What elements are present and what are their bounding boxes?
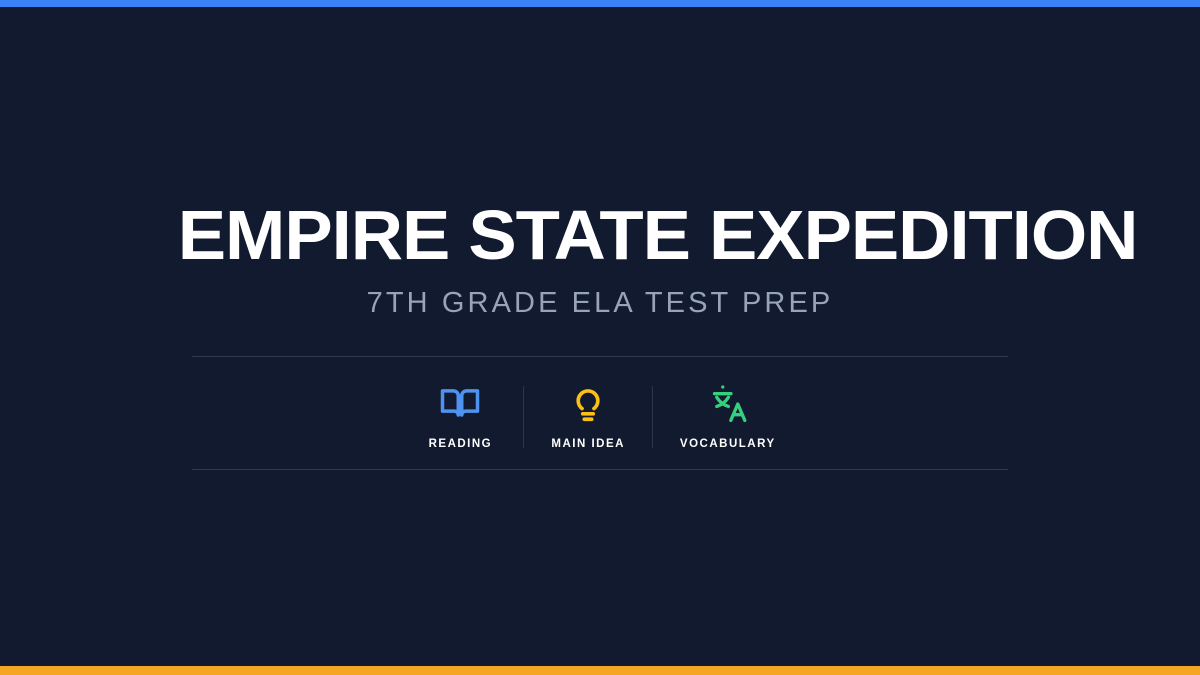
divider-top: [192, 356, 1008, 357]
page-title: EMPIRE STATE EXPEDITION: [178, 196, 1023, 274]
translate-icon: [707, 383, 749, 425]
feature-row: READING MAIN IDEA: [192, 365, 1008, 469]
feature-label-main-idea: MAIN IDEA: [551, 438, 625, 451]
feature-item-reading[interactable]: READING: [397, 383, 523, 451]
divider-bottom: [192, 469, 1008, 470]
lightbulb-icon: [567, 383, 609, 425]
feature-label-vocabulary: VOCABULARY: [680, 438, 776, 451]
feature-item-main-idea[interactable]: MAIN IDEA: [524, 383, 652, 451]
feature-label-reading: READING: [429, 438, 493, 451]
page-subtitle: 7TH GRADE ELA TEST PREP: [367, 286, 834, 320]
top-accent-bar: [0, 0, 1200, 7]
bottom-accent-bar: [0, 666, 1200, 675]
hero-content: EMPIRE STATE EXPEDITION 7TH GRADE ELA TE…: [192, 196, 1008, 478]
feature-item-vocabulary[interactable]: VOCABULARY: [653, 383, 803, 451]
title-slide: EMPIRE STATE EXPEDITION 7TH GRADE ELA TE…: [0, 0, 1200, 675]
open-book-icon: [439, 383, 481, 425]
